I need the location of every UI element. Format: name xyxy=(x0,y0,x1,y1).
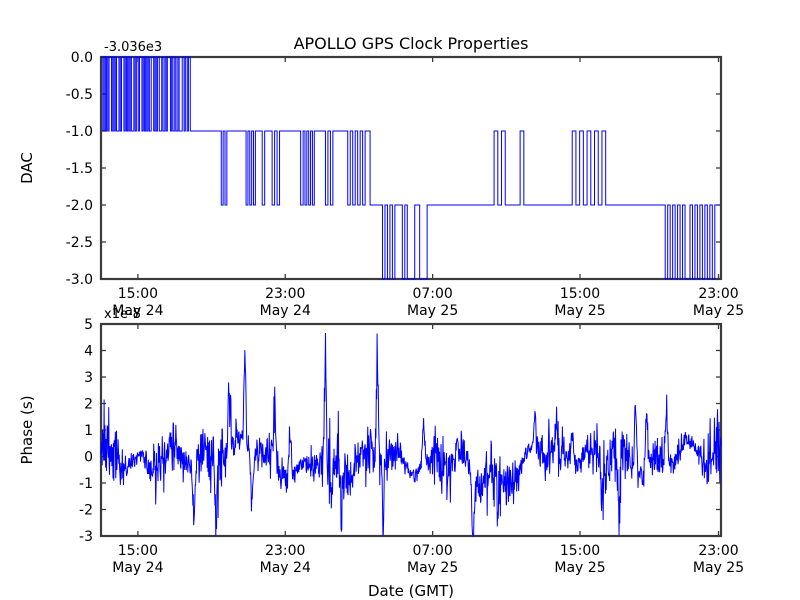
dac-panel-ylabel: DAC xyxy=(18,152,36,184)
phase-panel-ylabel: Phase (s) xyxy=(18,395,36,464)
phase-panel-ytick-label: 2 xyxy=(84,397,93,413)
dac-panel-ytick-label: -1.0 xyxy=(66,124,93,140)
phase-panel-xtick-label: 07:00 xyxy=(412,543,452,559)
phase-panel-xtick-label: May 25 xyxy=(554,560,605,576)
dac-panel-xtick-label: 07:00 xyxy=(412,286,452,302)
dac-panel-ytick-label: -2.0 xyxy=(66,198,93,214)
dac-panel-ytick-label: -3.0 xyxy=(66,272,93,288)
phase-panel-xtick-label: 15:00 xyxy=(560,543,600,559)
dac-panel-xtick-label: May 25 xyxy=(693,303,744,319)
dac-panel-ytick-label: -0.5 xyxy=(66,87,93,103)
dac-panel-xtick-label: 15:00 xyxy=(118,286,158,302)
phase-panel-ytick-label: 5 xyxy=(84,317,93,333)
dac-panel-ytick-label: -2.5 xyxy=(66,235,93,251)
phase-panel-ytick-label: -1 xyxy=(79,476,93,492)
phase-panel-xtick-label: May 25 xyxy=(407,560,458,576)
matplotlib-figure: 0.0-0.5-1.0-1.5-2.0-2.5-3.015:00May 2423… xyxy=(0,0,800,600)
dac-panel-xtick-label: May 25 xyxy=(554,303,605,319)
figure-canvas: 0.0-0.5-1.0-1.5-2.0-2.5-3.015:00May 2423… xyxy=(0,0,800,600)
phase-panel-xtick-label: May 25 xyxy=(693,560,744,576)
phase-panel-xtick-label: May 24 xyxy=(112,560,163,576)
phase-panel-ytick-label: 1 xyxy=(84,423,93,439)
dac-panel-offset-label: -3.036e3 xyxy=(104,40,162,55)
phase-panel-xtick-label: 23:00 xyxy=(698,543,738,559)
phase-panel-ytick-label: -3 xyxy=(79,529,93,545)
phase-panel-ytick-label: -2 xyxy=(79,503,93,519)
dac-panel-xtick-label: May 24 xyxy=(260,303,311,319)
phase-panel-xtick-label: 23:00 xyxy=(265,543,305,559)
dac-panel-xtick-label: May 25 xyxy=(407,303,458,319)
figure-title: APOLLO GPS Clock Properties xyxy=(294,34,529,53)
dac-panel-xtick-label: 23:00 xyxy=(265,286,305,302)
phase-panel-ytick-label: 4 xyxy=(84,344,93,360)
dac-panel-xtick-label: 15:00 xyxy=(560,286,600,302)
phase-panel-ytick-label: 0 xyxy=(84,450,93,466)
phase-panel-xlabel: Date (GMT) xyxy=(368,582,454,600)
phase-panel-ytick-label: 3 xyxy=(84,370,93,386)
dac-panel-ytick-label: -1.5 xyxy=(66,161,93,177)
phase-panel-offset-label: x1e-8 xyxy=(104,307,141,322)
phase-panel-xtick-label: May 24 xyxy=(260,560,311,576)
phase-panel-xtick-label: 15:00 xyxy=(118,543,158,559)
dac-panel-xtick-label: 23:00 xyxy=(698,286,738,302)
dac-panel-ytick-label: 0.0 xyxy=(71,50,93,66)
